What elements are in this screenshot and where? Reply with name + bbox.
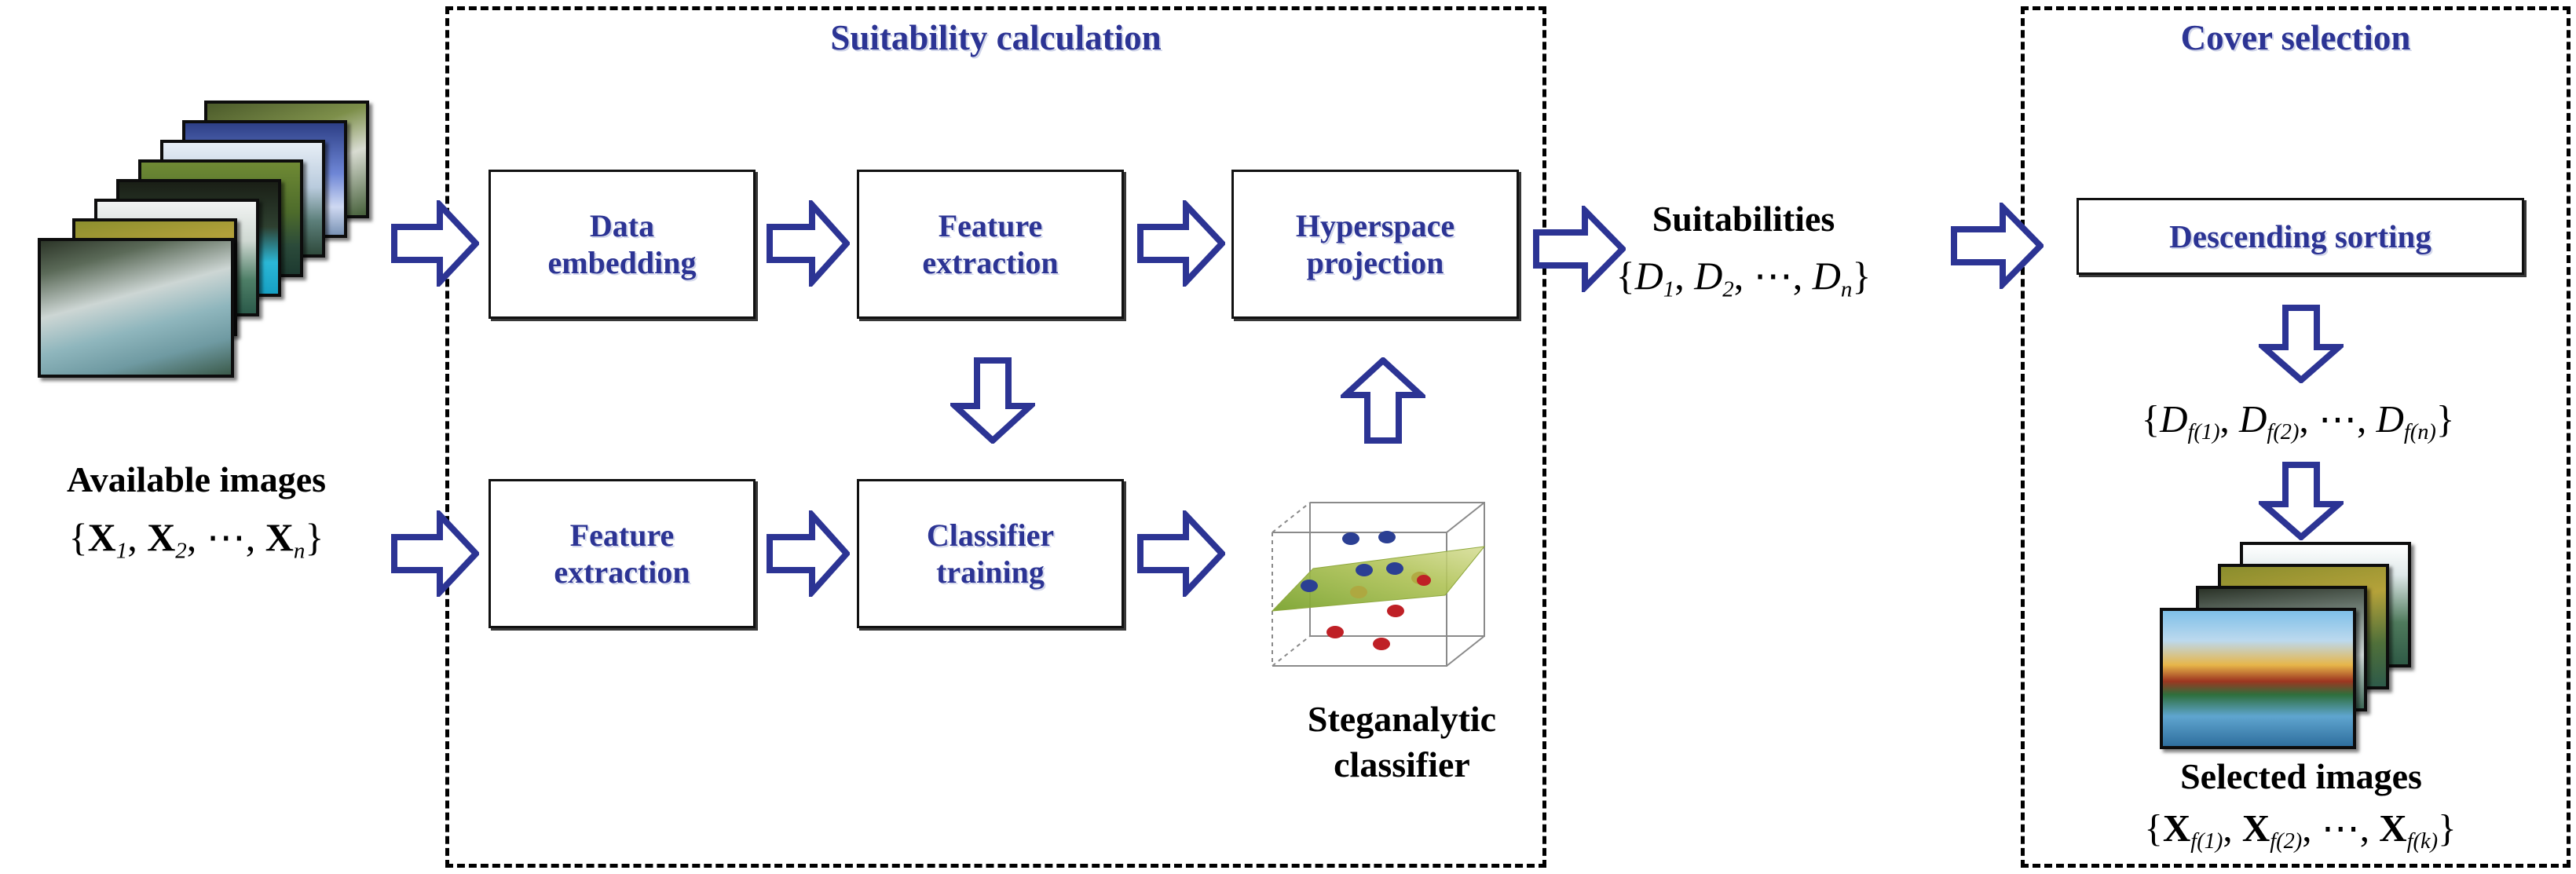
formula-text: {Xf(1), Xf(2), ⋯, Xf(k)} [2144, 806, 2456, 850]
steganalytic-classifier-caption-line1: Steganalytic [1225, 699, 1579, 740]
image-thumbnail-front [2160, 608, 2356, 749]
arrow-cube-to-hyperspace-projection [1341, 357, 1425, 448]
available-images-stack [31, 94, 385, 448]
arrow-input-to-feature-extraction-bottom [391, 510, 479, 601]
box-feature-extraction-top[interactable]: Featureextraction [857, 170, 1124, 319]
formula-text: {Df(1), Df(2), ⋯, Df(n)} [2142, 397, 2455, 441]
cube-svg [1257, 471, 1539, 675]
arrow-suitabilities-to-descending-sorting [1951, 203, 2044, 293]
box-data-embedding[interactable]: Dataembedding [488, 170, 756, 319]
formula-text: {D1, D2, ⋯, Dn} [1616, 254, 1872, 298]
box-classifier-training[interactable]: Classifiertraining [857, 479, 1124, 628]
box-hyperspace-projection[interactable]: Hyperspaceprojection [1231, 170, 1519, 319]
steganalytic-classifier-cube [1257, 471, 1539, 675]
panel-cover-title: Cover selection [2021, 17, 2571, 58]
arrow-feature-extraction-bottom-to-classifier-training [767, 510, 850, 601]
arrow-hyperspace-to-suitabilities [1533, 206, 1626, 296]
available-images-formula: {X1, X2, ⋯, Xn} [0, 514, 393, 564]
selected-images-stack [2152, 542, 2466, 746]
box-label: Featureextraction [922, 207, 1058, 281]
diagram-canvas: Available images {X1, X2, ⋯, Xn} Suitabi… [0, 0, 2576, 874]
steganalytic-classifier-caption-line2: classifier [1225, 744, 1579, 785]
sorted-suitabilities-formula: {Df(1), Df(2), ⋯, Df(n)} [2039, 397, 2557, 445]
arrow-data-embedding-to-feature-extraction [767, 200, 850, 291]
available-images-caption: Available images [0, 459, 393, 500]
arrow-descending-sorting-to-sorted-list [2259, 305, 2344, 387]
selected-images-caption: Selected images [2042, 756, 2560, 797]
panel-suitability-title: Suitability calculation [445, 17, 1546, 58]
arrow-sorted-list-to-selected-images [2259, 462, 2344, 544]
image-thumbnail-front [38, 238, 234, 378]
box-label: Descending sorting [2169, 218, 2431, 255]
box-label: Featureextraction [554, 517, 690, 591]
formula-text: {X1, X2, ⋯, Xn} [69, 515, 324, 559]
arrow-classifier-training-to-cube [1137, 510, 1225, 601]
box-feature-extraction-bottom[interactable]: Featureextraction [488, 479, 756, 628]
box-label: Hyperspaceprojection [1296, 207, 1454, 281]
arrow-input-to-data-embedding [391, 200, 479, 291]
box-label: Dataembedding [548, 207, 697, 281]
arrow-feature-extraction-to-hyperspace [1137, 200, 1225, 291]
box-label: Classifiertraining [927, 517, 1054, 591]
selected-images-formula: {Xf(1), Xf(2), ⋯, Xf(k)} [2029, 806, 2571, 854]
box-descending-sorting[interactable]: Descending sorting [2077, 198, 2524, 275]
arrow-feature-extraction-to-classifier-training [950, 357, 1035, 448]
